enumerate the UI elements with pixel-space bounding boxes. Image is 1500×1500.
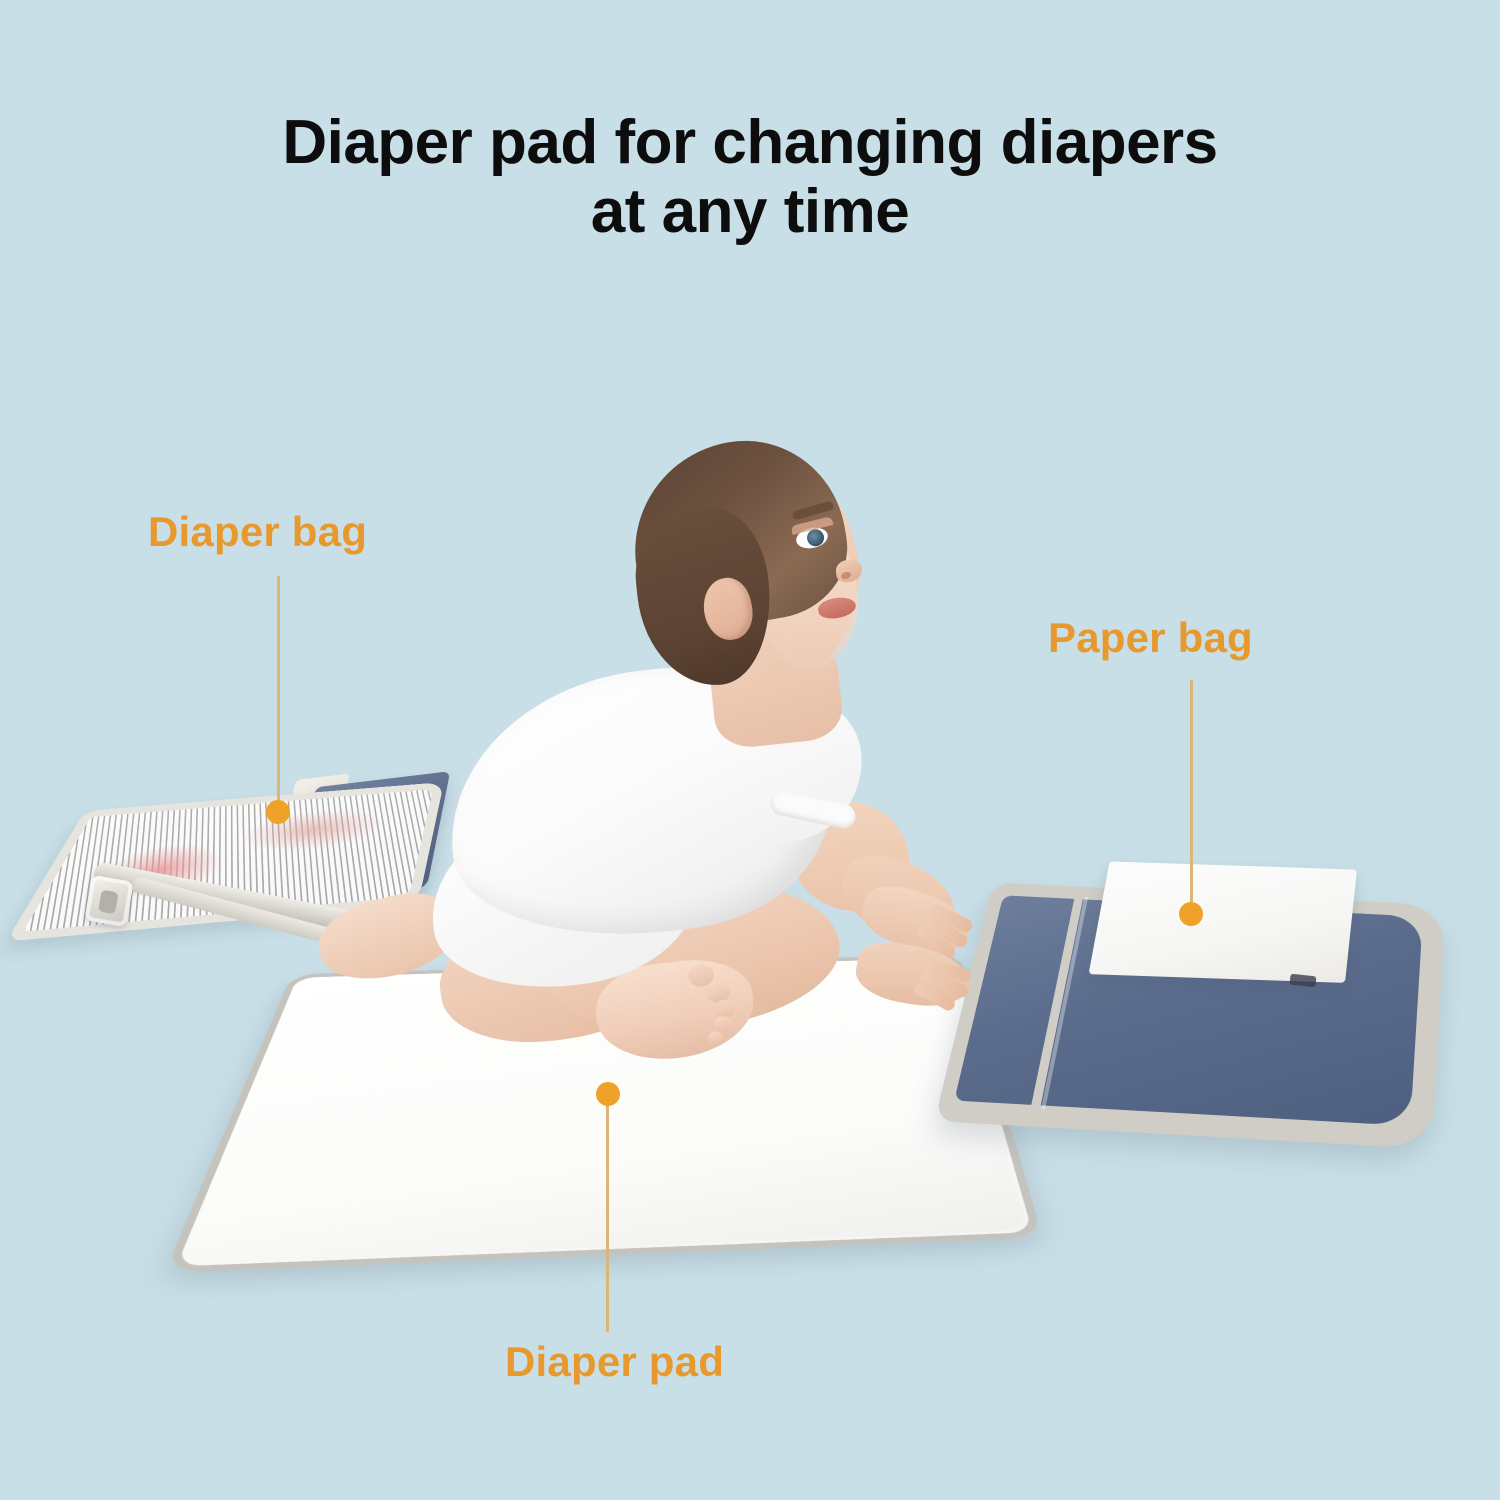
product-photo bbox=[0, 0, 1500, 1500]
callout-dot-paper-bag bbox=[1179, 902, 1203, 926]
callout-label-paper-bag: Paper bag bbox=[1048, 614, 1253, 662]
callout-leader-line-diaper-pad bbox=[606, 1102, 609, 1332]
callout-leader-line-paper-bag bbox=[1190, 680, 1193, 902]
callout-leader-line-diaper-bag bbox=[277, 576, 280, 812]
callout-label-diaper-pad: Diaper pad bbox=[505, 1338, 724, 1386]
callout-label-diaper-bag: Diaper bag bbox=[148, 508, 367, 556]
callout-dot-diaper-bag bbox=[266, 800, 290, 824]
infographic-canvas: Diaper pad for changing diapers at any t… bbox=[0, 0, 1500, 1500]
baby-figure bbox=[0, 0, 1500, 1500]
baby-toe-5 bbox=[707, 1030, 723, 1045]
callout-dot-diaper-pad bbox=[596, 1082, 620, 1106]
